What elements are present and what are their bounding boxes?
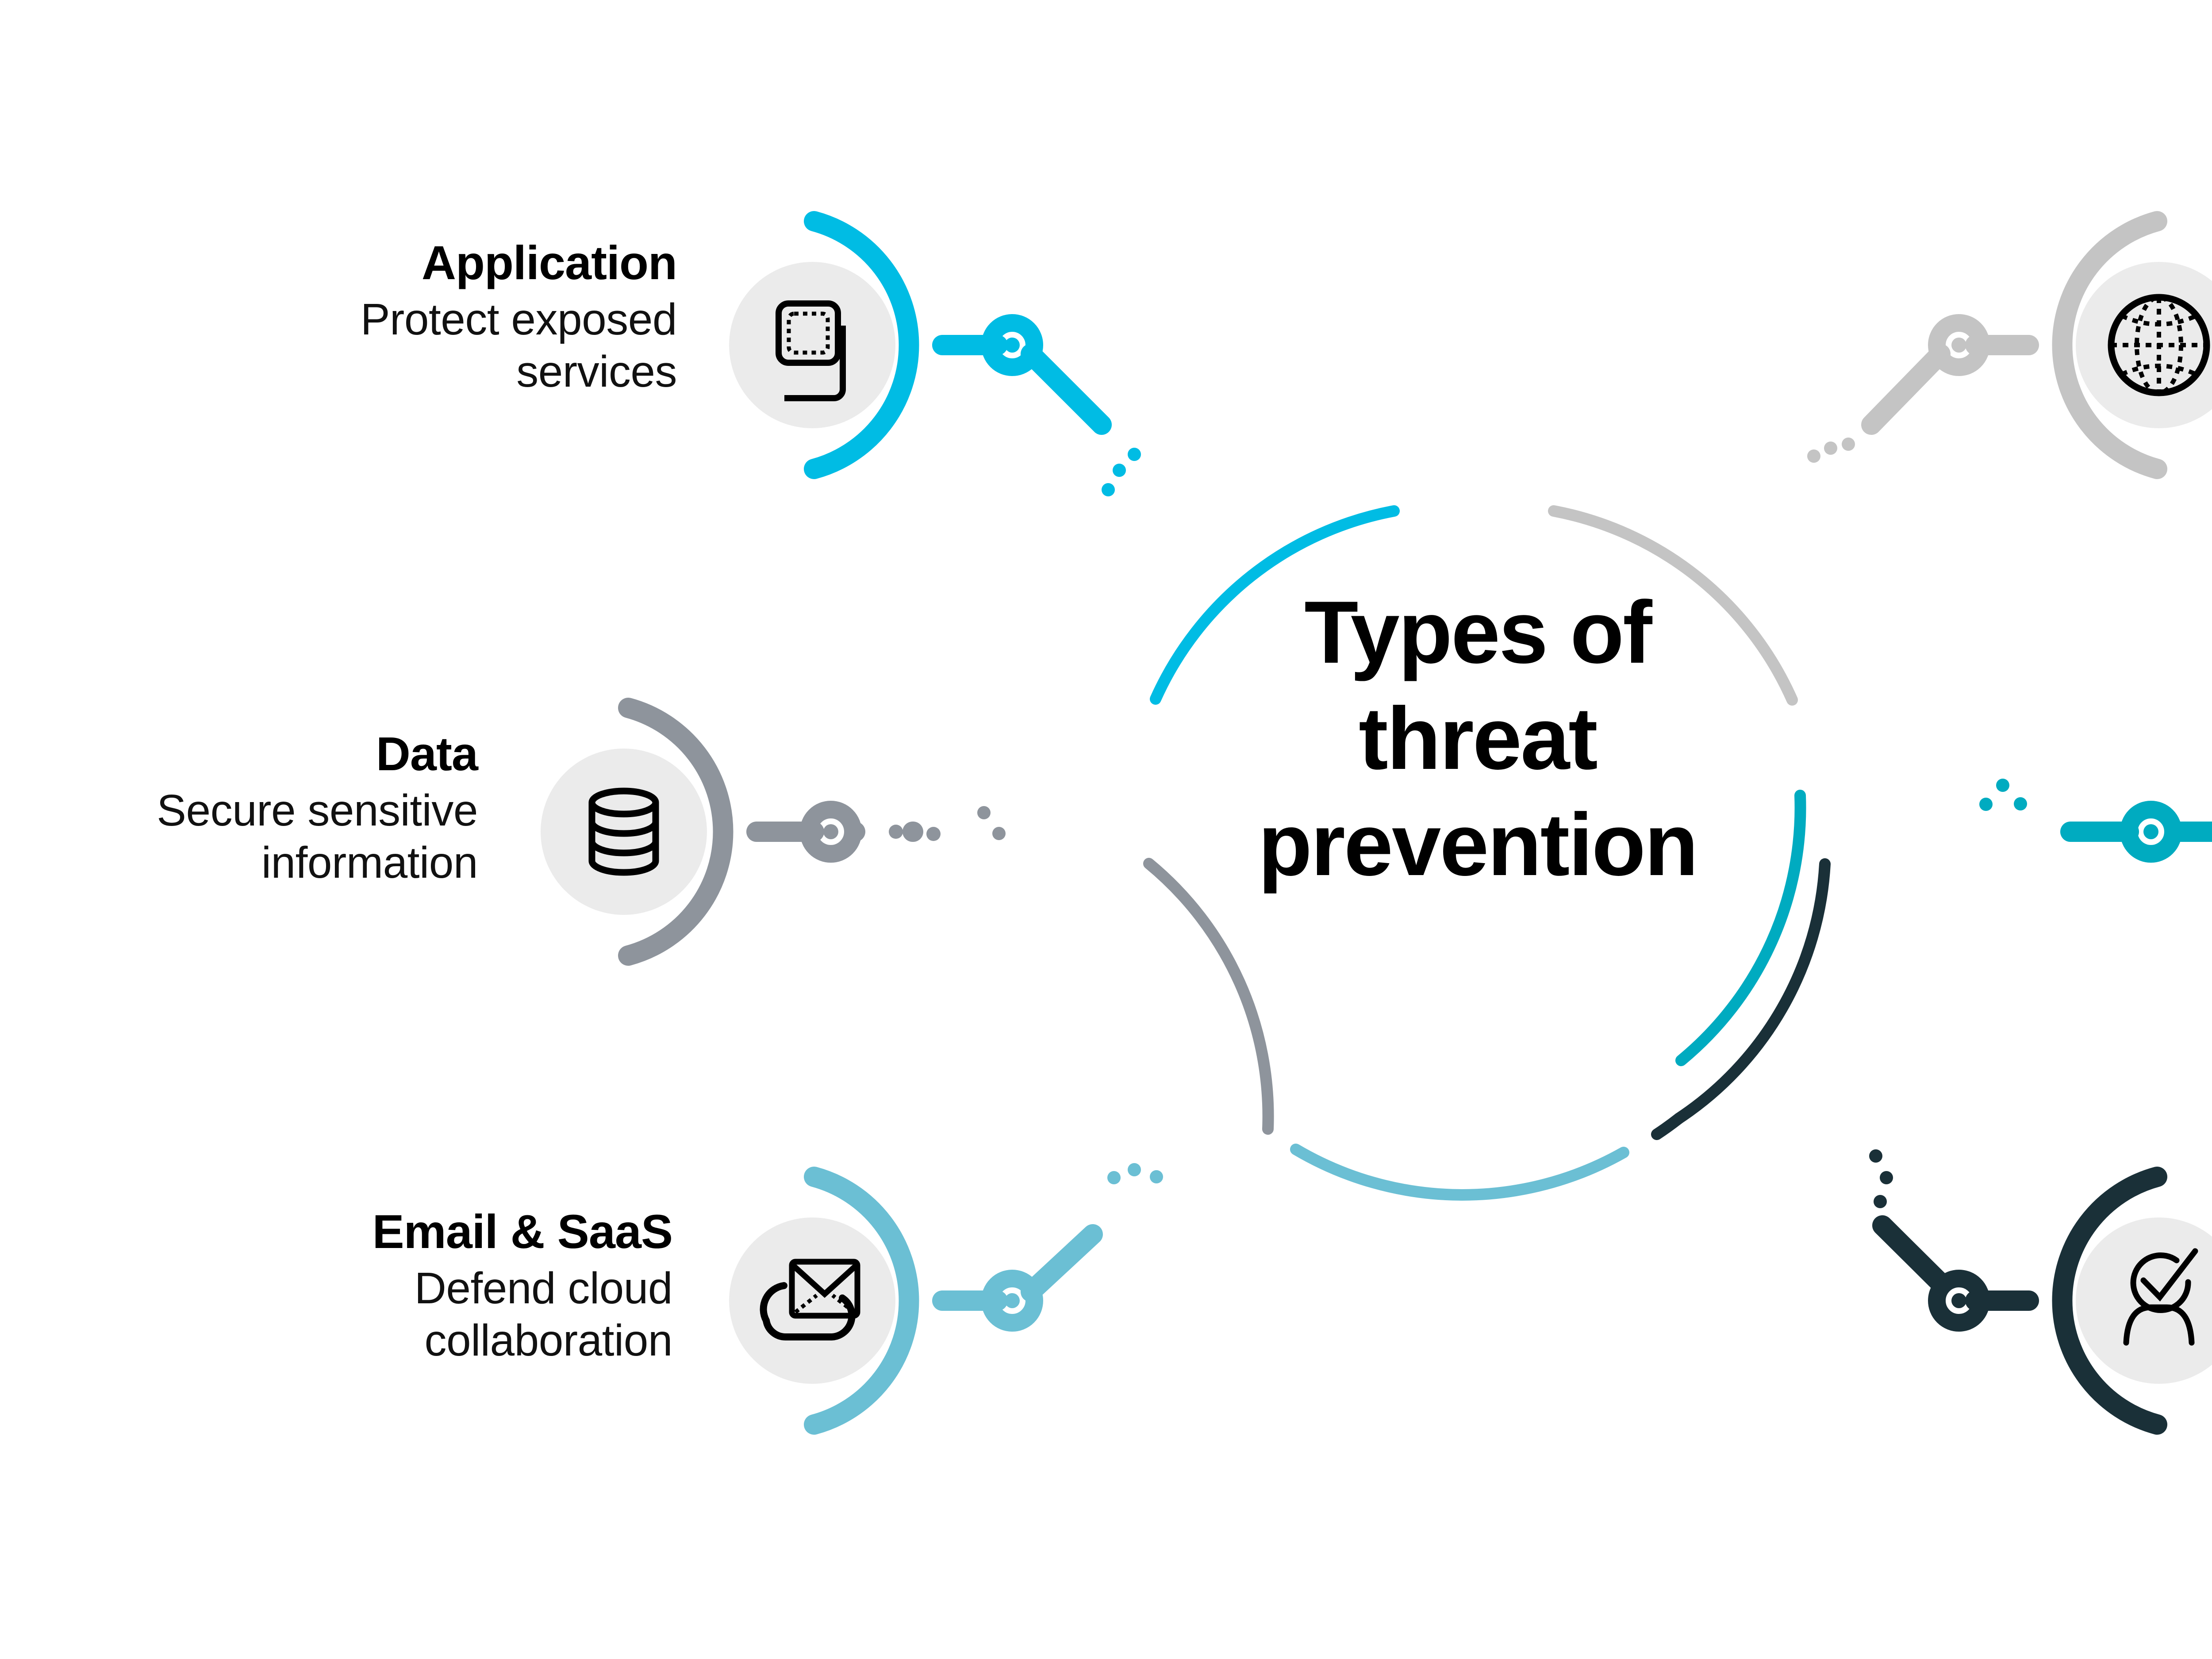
center-title-line-3: prevention — [1203, 792, 1752, 898]
node-identity[interactable] — [1882, 1177, 2212, 1425]
ring-dot — [1150, 1170, 1163, 1183]
email-connector-stub — [1031, 1234, 1093, 1292]
label-email-saas-title: Email & SaaS — [190, 1203, 672, 1260]
center-title: Types of threat prevention — [1203, 580, 1752, 898]
label-application-title: Application — [257, 234, 677, 291]
ring-arc-email-saas — [1296, 1149, 1624, 1195]
ring-dot — [1113, 464, 1126, 477]
label-email-saas: Email & SaaS Defend cloud collaboration — [190, 1203, 672, 1367]
data-connector-dot-2 — [926, 827, 941, 841]
application-icon-bubble — [729, 262, 895, 428]
ring-arc-data — [1149, 864, 1268, 1129]
email-joint-dot — [1005, 1293, 1020, 1308]
ring-dot — [1874, 1195, 1887, 1208]
network-icon-bubble — [2076, 262, 2212, 428]
label-data-title: Data — [71, 726, 478, 782]
center-title-line-2: threat — [1203, 686, 1752, 792]
application-connector-stub — [1031, 354, 1102, 425]
ring-arc-identity — [1679, 864, 1825, 1118]
endpoint-joint-dot — [2143, 824, 2158, 839]
data-connector-dot-1 — [889, 825, 903, 839]
ring-dot — [1979, 798, 1993, 811]
label-data-description: Secure sensitive information — [71, 784, 478, 889]
label-data: Data Secure sensitive information — [71, 726, 478, 889]
ring-dot — [2014, 797, 2027, 810]
application-joint-dot — [1005, 338, 1020, 353]
ring-dot — [1869, 1149, 1882, 1163]
label-application: Application Protect exposed services — [257, 234, 677, 398]
ring-dot — [1880, 1171, 1893, 1184]
ring-dot — [1107, 1171, 1121, 1184]
globe-icon — [2111, 297, 2207, 393]
ring-dot — [1128, 448, 1141, 461]
ring-dot — [1128, 1163, 1141, 1176]
node-network[interactable] — [1871, 221, 2212, 469]
identity-connector-stub — [1882, 1225, 1940, 1283]
label-application-description: Protect exposed services — [257, 293, 677, 398]
center-title-line-1: Types of — [1203, 580, 1752, 686]
identity-joint-dot — [1951, 1293, 1966, 1308]
ring-arc-identity-tail — [1657, 1118, 1679, 1134]
label-email-saas-description: Defend cloud collaboration — [190, 1262, 672, 1367]
ring-dot — [1824, 442, 1837, 455]
network-joint-dot — [1951, 338, 1966, 353]
network-connector-stub — [1871, 354, 1940, 425]
ring-dot — [977, 806, 991, 819]
data-joint-dot — [823, 824, 838, 839]
infographic-canvas: Application Protect exposed services Net… — [0, 0, 2212, 1659]
ring-dot — [1842, 438, 1855, 451]
ring-dot — [1102, 483, 1115, 496]
email-icon-bubble — [729, 1217, 895, 1384]
ring-dot — [992, 827, 1006, 840]
node-endpoint[interactable] — [2070, 708, 2212, 956]
ring-dot — [1996, 779, 2009, 792]
ring-dot — [1807, 449, 1820, 463]
node-application[interactable] — [729, 221, 1102, 469]
node-email-saas[interactable] — [729, 1177, 1093, 1425]
node-data[interactable] — [541, 708, 941, 956]
